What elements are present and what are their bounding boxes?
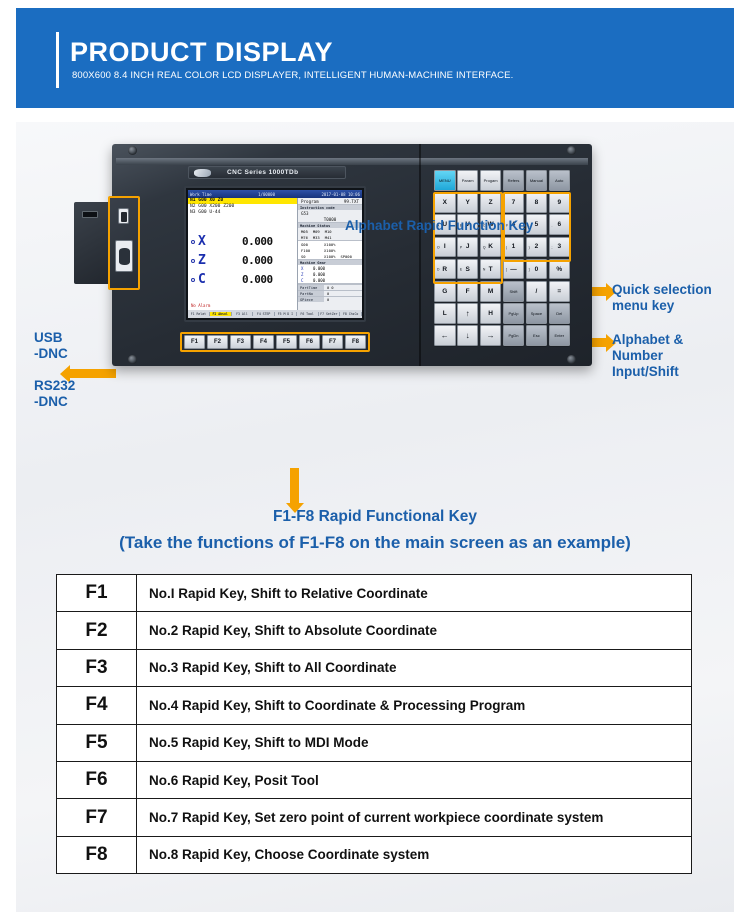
key-[interactable]: = (549, 281, 571, 302)
key-label: Manual (530, 178, 543, 183)
keypad-row: DRESNT[—]0% (434, 259, 570, 280)
table-cell-key: F3 (57, 649, 137, 686)
page-subtitle: 800X600 8.4 INCH REAL COLOR LCD DISPLAYE… (72, 70, 513, 82)
lcd-bezel: Work Time 1/00000 2017-01-08 10:06 N1 G0… (184, 186, 366, 322)
key-label: F (466, 288, 470, 295)
key-j[interactable]: PJ (457, 237, 479, 258)
key-[interactable]: ↑ (457, 303, 479, 324)
keypad-row: XYZ789 (434, 192, 570, 213)
key-t[interactable]: NT (480, 259, 502, 280)
arrow-ports-icon (70, 369, 116, 378)
lcd-screen: Work Time 1/00000 2017-01-08 10:06 N1 G0… (188, 190, 362, 318)
axis-value: 0.000 (242, 254, 273, 267)
counter-value: 0 (324, 291, 332, 296)
cnc-controller-photo: CNC Series 1000TDb Work Time 1/00000 201… (112, 144, 592, 366)
key-s[interactable]: ES (457, 259, 479, 280)
function-key-f4[interactable]: F4 (253, 335, 274, 349)
key-progam[interactable]: Progam (480, 170, 502, 191)
gear-value: 0.000 (313, 272, 325, 277)
table-cell-description: No.7 Rapid Key, Set zero point of curren… (137, 799, 692, 836)
lcd-fn-tab[interactable]: F5 M D I (275, 312, 297, 316)
table-cell-description: No.6 Rapid Key, Posit Tool (137, 761, 692, 798)
keypad-row: OIPJQK(1)2;3 (434, 237, 570, 258)
callout-alphabet-rapid-function-key: Alphabet Rapid Function Key (345, 218, 533, 234)
gear-axis: X (301, 266, 313, 271)
key-label: 1 (512, 243, 516, 250)
page-title: PRODUCT DISPLAY (70, 36, 333, 68)
key-shift[interactable]: Shift (503, 281, 525, 302)
key-label: PgDn (508, 333, 518, 338)
key-label: J (466, 243, 470, 250)
key-f[interactable]: F (457, 281, 479, 302)
keypad: MENUParamProgamRefersManualAutoXYZ789AUB… (434, 170, 570, 346)
callout-rs232-line2: -DNC (34, 394, 75, 410)
callout-alnum-line3: Input/Shift (612, 364, 683, 380)
key-9[interactable]: 9 (549, 192, 571, 213)
table-cell-key: F8 (57, 836, 137, 873)
lcd-function-tabbar: F1 RelatF2 AbsolF3 AllF4 STEPF5 M D IF6 … (188, 310, 362, 318)
callout-usb-line1: USB (34, 330, 68, 346)
key-label: R (442, 266, 447, 273)
axis-label: Z (198, 253, 214, 268)
table-row: F7No.7 Rapid Key, Set zero point of curr… (57, 799, 692, 836)
key-space[interactable]: Space (526, 303, 548, 324)
counter-label: PartTime (298, 285, 324, 290)
axis-row: C 0.000 (188, 270, 297, 289)
key-shift-label: ] (529, 268, 530, 272)
key-del[interactable]: Del (549, 303, 571, 324)
table-row: F4No.4 Rapid Key, Shift to Coordinate & … (57, 687, 692, 724)
key-l[interactable]: L (434, 303, 456, 324)
key-shift-label: D (437, 268, 439, 272)
counter-label: PartNo (298, 291, 324, 296)
key-8[interactable]: 8 (526, 192, 548, 213)
lcd-main-area: N1 G00 X0 Z0 N2 G00 X200 Z200 N3 G00 U-4… (188, 198, 362, 310)
key-label: S (465, 266, 469, 273)
lcd-fn-tab[interactable]: F8 ChsCo (340, 312, 362, 316)
lcd-status-bar: Work Time 1/00000 2017-01-08 10:06 (188, 190, 362, 198)
feed-rate-section: G00 X100% F100 X100% S0 X100% SP000 (298, 241, 362, 260)
table-row: F6No.6 Rapid Key, Posit Tool (57, 761, 692, 798)
table-cell-description: No.5 Rapid Key, Shift to MDI Mode (137, 724, 692, 761)
brand-strip: CNC Series 1000TDb (188, 166, 346, 179)
key-label: Auto (555, 178, 563, 183)
key-label: 3 (557, 243, 561, 250)
key-0[interactable]: ]0 (526, 259, 548, 280)
key-manual[interactable]: Manual (526, 170, 548, 191)
key-shift-label: Q (483, 246, 486, 250)
key-param[interactable]: Param (457, 170, 479, 191)
key-shift-label: ) (529, 246, 530, 250)
key-m[interactable]: M (480, 281, 502, 302)
key-y[interactable]: Y (457, 192, 479, 213)
rate-pct: X100% (324, 254, 335, 259)
key-[interactable]: % (549, 259, 571, 280)
gear-axis: Z (301, 272, 313, 277)
program-info-section: Program 99.TXT (298, 198, 362, 205)
callout-rs232-line1: RS232 (34, 378, 75, 394)
header-banner: PRODUCT DISPLAY 800X600 8.4 INCH REAL CO… (16, 8, 734, 108)
function-key-f3[interactable]: F3 (230, 335, 251, 349)
lcd-coordinate-pane: N1 G00 X0 Z0 N2 G00 X200 Z200 N3 G00 U-4… (188, 198, 298, 310)
key-esc[interactable]: Esc (526, 325, 548, 346)
key-label: / (535, 288, 537, 295)
status-code: M05 (301, 229, 308, 234)
axis-label: X (198, 234, 214, 249)
key-menu[interactable]: MENU (434, 170, 456, 191)
port-highlight-box (108, 196, 140, 290)
key-label: ↓ (466, 331, 470, 340)
counter-row: GPiece 0 (298, 296, 362, 302)
lcd-fn-tab[interactable]: F6 Tool (297, 312, 319, 316)
key-label: M (488, 288, 493, 295)
spindle-value: SP000 (340, 254, 351, 259)
callout-quick-line2: menu key (612, 298, 712, 314)
key-label: MENU (439, 178, 451, 183)
callout-usb-dnc: USB -DNC (34, 330, 68, 362)
key-6[interactable]: .6 (549, 214, 571, 235)
key-label: Space (531, 311, 542, 316)
callout-quick-line1: Quick selection (612, 282, 712, 298)
key-label: ↑ (466, 309, 470, 318)
key-h[interactable]: H (480, 303, 502, 324)
key-[interactable]: [— (503, 259, 525, 280)
alarm-status-text: No Alarm (191, 303, 210, 308)
key-label: L (443, 310, 447, 317)
rate-pct: X100% (324, 248, 335, 253)
table-cell-description: No.4 Rapid Key, Shift to Coordinate & Pr… (137, 687, 692, 724)
gear-value: 0.000 (313, 266, 325, 271)
axis-indicator-icon (191, 259, 195, 263)
key-7[interactable]: 7 (503, 192, 525, 213)
key-label: = (557, 288, 561, 295)
axis-indicator-icon (191, 278, 195, 282)
key-label: Shift (509, 289, 517, 294)
key-label: 8 (535, 199, 539, 206)
counter-value: 0 0 (324, 285, 337, 290)
key-label: K (488, 243, 493, 250)
table-cell-key: F5 (57, 724, 137, 761)
key-label: Progam (484, 178, 498, 183)
keypad-row: GFMShift/= (434, 281, 570, 302)
screw-icon (567, 355, 576, 364)
key-label: H (488, 310, 493, 317)
key-shift-label: P (460, 246, 462, 250)
brand-model-label: CNC Series 1000TDb (227, 169, 299, 176)
product-display-page: PRODUCT DISPLAY 800X600 8.4 INCH REAL CO… (0, 0, 750, 917)
key-label: Del (556, 311, 562, 316)
lcd-info-pane: Program 99.TXT Instruction code G53 T000… (298, 198, 362, 310)
table-row: F8No.8 Rapid Key, Choose Coordinate syst… (57, 836, 692, 873)
lcd-datetime: 2017-01-08 10:06 (321, 192, 360, 197)
rate-code: F100 (301, 248, 319, 253)
function-key-table: F1No.I Rapid Key, Shift to Relative Coor… (56, 574, 692, 874)
key-i[interactable]: OI (434, 237, 456, 258)
function-key-f2[interactable]: F2 (207, 335, 228, 349)
table-row: F2No.2 Rapid Key, Shift to Absolute Coor… (57, 612, 692, 649)
caption-line-2: (Take the functions of F1-F8 on the main… (0, 533, 750, 553)
keypad-row: MENUParamProgamRefersManualAuto (434, 170, 570, 191)
rate-pct: X100% (324, 242, 335, 247)
manufacturer-logo-icon (194, 169, 211, 177)
table-cell-key: F6 (57, 761, 137, 798)
function-key-f6[interactable]: F6 (299, 335, 320, 349)
function-key-f8[interactable]: F8 (345, 335, 366, 349)
device-panel-divider (419, 144, 421, 366)
key-pgdn[interactable]: PgDn (503, 325, 525, 346)
key-shift-label: ( (506, 246, 507, 250)
status-code: M09 (313, 229, 320, 234)
lcd-fn-tab[interactable]: F7 SetZer (319, 312, 341, 316)
table-row: F3No.3 Rapid Key, Shift to All Coordinat… (57, 649, 692, 686)
status-code: M76 (301, 235, 308, 240)
device-top-rail (116, 158, 588, 165)
mini-usb-port-icon (118, 208, 129, 224)
key-shift-label: N (483, 268, 485, 272)
caption-line-1: F1-F8 Rapid Functional Key (0, 508, 750, 526)
function-key-f1[interactable]: F1 (184, 335, 205, 349)
key-auto[interactable]: Auto (549, 170, 571, 191)
table-cell-description: No.2 Rapid Key, Shift to Absolute Coordi… (137, 612, 692, 649)
key-z[interactable]: Z (480, 192, 502, 213)
callout-quick-selection-menu-key: Quick selection menu key (612, 282, 712, 314)
lcd-fn-tab[interactable]: F1 Relat (188, 312, 210, 316)
key-label: Param (462, 178, 474, 183)
key-label: 9 (557, 199, 561, 206)
key-label: 5 (535, 221, 539, 228)
rate-code: S0 (301, 254, 319, 259)
callout-alnum-line1: Alphabet & (612, 332, 683, 348)
table-cell-key: F1 (57, 575, 137, 612)
axis-label: C (198, 272, 214, 287)
key-[interactable]: → (480, 325, 502, 346)
key-label: Z (489, 199, 493, 206)
key-x[interactable]: X (434, 192, 456, 213)
lcd-fn-tab[interactable]: F2 Absol (210, 312, 232, 316)
function-key-f5[interactable]: F5 (276, 335, 297, 349)
key-label: Y (465, 199, 469, 206)
key-k[interactable]: QK (480, 237, 502, 258)
axis-row: X 0.000 (188, 232, 297, 251)
key-label: Enter (555, 333, 565, 338)
table-cell-key: F4 (57, 687, 137, 724)
key-1[interactable]: (1 (503, 237, 525, 258)
key-pgup[interactable]: PgUp (503, 303, 525, 324)
key-r[interactable]: DR (434, 259, 456, 280)
table-cell-description: No.8 Rapid Key, Choose Coordinate system (137, 836, 692, 873)
key-label: I (444, 243, 446, 250)
status-code: M33 (313, 235, 320, 240)
program-name: 99.TXT (344, 199, 359, 204)
gear-axis: C (301, 278, 313, 283)
key-[interactable]: / (526, 281, 548, 302)
key-label: % (556, 266, 562, 273)
axis-value: 0.000 (242, 235, 273, 248)
table-cell-description: No.3 Rapid Key, Shift to All Coordinate (137, 649, 692, 686)
callout-usb-line2: -DNC (34, 346, 68, 362)
axis-value: 0.000 (242, 273, 273, 286)
screw-icon (128, 146, 137, 155)
key-enter[interactable]: Enter (549, 325, 571, 346)
machine-gear-section: Machine Gear X 0.000 Z 0.000 C (298, 260, 362, 284)
program-line: N3 G00 U-44 (188, 210, 297, 216)
table-row: F5No.5 Rapid Key, Shift to MDI Mode (57, 724, 692, 761)
table-cell-key: F2 (57, 612, 137, 649)
status-code: M10 (325, 229, 332, 234)
key-label: Esc (533, 333, 540, 338)
axis-row: Z 0.000 (188, 251, 297, 270)
key-refers[interactable]: Refers (503, 170, 525, 191)
key-label: 2 (535, 243, 539, 250)
lcd-counter: 1/00000 (258, 192, 275, 197)
key-g[interactable]: G (434, 281, 456, 302)
arrow-fkeys-icon (290, 468, 299, 504)
axis-indicator-icon (191, 240, 195, 244)
program-label: Program (301, 199, 319, 204)
key-shift-label: [ (506, 268, 507, 272)
key-shift-label: ; (552, 246, 553, 250)
counter-label: GPiece (298, 297, 324, 302)
screw-icon (567, 146, 576, 155)
counter-value: 0 (324, 297, 332, 302)
banner-accent-bar (56, 32, 59, 88)
key-label: Refers (508, 178, 520, 183)
lcd-fn-tab[interactable]: F3 All (232, 312, 254, 316)
keypad-row: ←↓→PgDnEscEnter (434, 325, 570, 346)
table-cell-key: F7 (57, 799, 137, 836)
key-label: — (510, 266, 517, 273)
lcd-fn-tab[interactable]: F4 STEP (253, 312, 275, 316)
key-shift-label: . (552, 223, 553, 227)
axis-readout-block: X 0.000 Z 0.000 C 0.000 (188, 232, 297, 289)
screw-icon (128, 355, 137, 364)
db9-rs232-port-icon (115, 240, 133, 272)
function-key-strip: F1F2F3F4F5F6F7F8 (184, 335, 366, 349)
key-label: 0 (535, 266, 539, 273)
key-3[interactable]: ;3 (549, 237, 571, 258)
table-cell-description: No.I Rapid Key, Shift to Relative Coordi… (137, 575, 692, 612)
function-key-f7[interactable]: F7 (322, 335, 343, 349)
key-shift-label: O (437, 246, 440, 250)
usb-port-icon (82, 211, 98, 218)
callout-alnum-line2: Number (612, 348, 683, 364)
callout-alphabet-number-input-shift: Alphabet & Number Input/Shift (612, 332, 683, 380)
status-code: M41 (325, 235, 332, 240)
lcd-worktime: Work Time (190, 192, 212, 197)
key-label: T (489, 266, 493, 273)
key-shift-label: E (460, 268, 462, 272)
key-label: → (487, 331, 495, 340)
table-row: F1No.I Rapid Key, Shift to Relative Coor… (57, 575, 692, 612)
key-2[interactable]: )2 (526, 237, 548, 258)
callout-rs232-dnc: RS232 -DNC (34, 378, 75, 410)
key-[interactable]: ← (434, 325, 456, 346)
key-label: 6 (557, 221, 561, 228)
key-label: 7 (512, 199, 516, 206)
gear-value: 0.000 (313, 278, 325, 283)
rate-code: G00 (301, 242, 319, 247)
keypad-row: L↑HPgUpSpaceDel (434, 303, 570, 324)
key-label: PgUp (508, 311, 518, 316)
key-label: X (443, 199, 447, 206)
key-label: G (442, 288, 447, 295)
key-label: ← (441, 331, 449, 340)
key-[interactable]: ↓ (457, 325, 479, 346)
port-cover-flap[interactable] (74, 202, 110, 284)
